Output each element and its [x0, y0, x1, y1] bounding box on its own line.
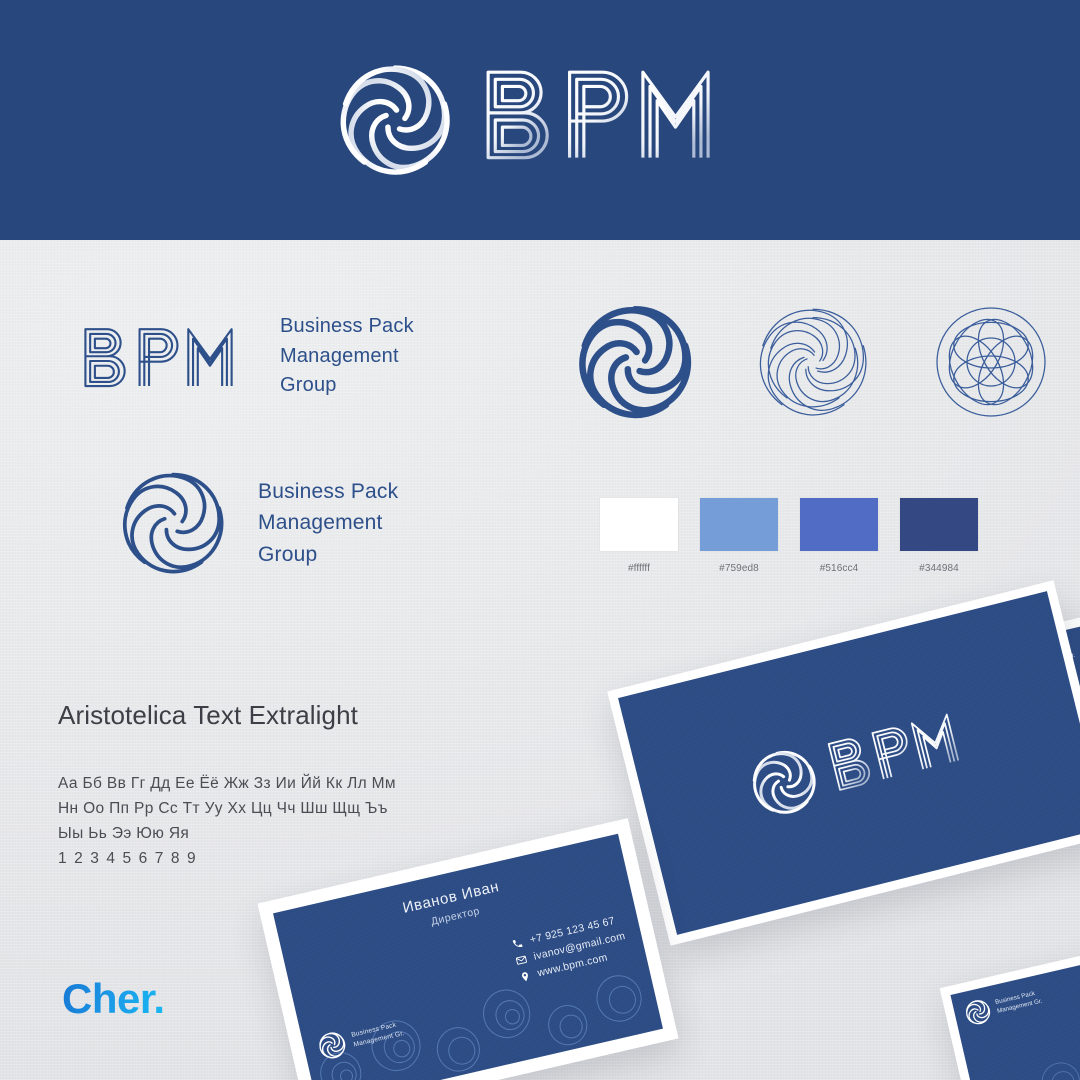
swatch: #759ed8	[700, 498, 778, 574]
swatch: #344984	[900, 498, 978, 574]
tagline-primary: Business Pack Management Group	[280, 312, 414, 401]
swatch: #ffffff	[600, 498, 678, 574]
font-name: Aristotelica Text Extralight	[58, 700, 396, 731]
tagline-line-1: Business Pack	[280, 312, 414, 342]
brand-identity-presentation: Business Pack Management Group Business …	[0, 0, 1080, 1080]
swatch-chip	[800, 498, 878, 551]
tagline-line-1: Business Pack	[258, 476, 398, 507]
mockup-front-card: Иванов Иван Директор +7 925 123 45 67	[278, 858, 658, 1080]
card-face	[618, 591, 1080, 935]
swatch-label: #516cc4	[800, 563, 878, 574]
swatch: #516cc4	[800, 498, 878, 574]
logo-grid	[931, 302, 1051, 422]
swatch-label: #344984	[900, 563, 978, 574]
studio-logo: Cher.	[62, 975, 165, 1023]
tagline-line-3: Group	[258, 539, 398, 570]
logo-construction-row	[575, 302, 1051, 422]
typography-specimen: Aristotelica Text Extralight Аа Бб Вв Гг…	[58, 700, 396, 871]
header-band	[0, 0, 1080, 240]
swatch-label: #ffffff	[600, 563, 678, 574]
business-card: Business Pack Management Gr.	[940, 932, 1080, 1080]
tagline-secondary: Business Pack Management Group	[258, 476, 398, 569]
swatch-label: #759ed8	[700, 563, 778, 574]
bpm-inline-wordmark	[480, 64, 745, 176]
logo-solid	[575, 302, 695, 422]
alphabet-row-3: Ыы Ьь Ээ Юю Яя	[58, 821, 396, 846]
logo-outline	[753, 302, 873, 422]
color-palette: #ffffff #759ed8 #516cc4 #344984	[600, 498, 978, 574]
business-card: Иванов Иван Директор +7 925 123 45 67	[257, 818, 678, 1080]
tagline-line-2: Management	[258, 507, 398, 538]
bpm-inline-wordmark	[80, 315, 256, 407]
alphabet-row-1: Аа Бб Вв Гг Дд Ее Ёё Жж Зз Ии Йй Кк Лл М…	[58, 771, 396, 796]
secondary-lockup: Business Pack Management Group	[118, 468, 398, 578]
phone-icon	[511, 936, 524, 949]
tagline-line-2: Management	[280, 342, 414, 372]
guideline-canvas: Business Pack Management Group Business …	[0, 240, 1080, 1080]
card-face: Business Pack Management Gr.	[950, 943, 1080, 1080]
swatch-chip	[700, 498, 778, 551]
spiral-swirl-logo-mark	[118, 468, 228, 578]
alphabet-rows: Аа Бб Вв Гг Дд Ее Ёё Жж Зз Ии Йй Кк Лл М…	[58, 771, 396, 871]
mockup-small-card-bottom: Business Pack Management Gr.	[955, 958, 1080, 1080]
tagline-line-3: Group	[280, 371, 414, 401]
swatch-chip	[900, 498, 978, 551]
primary-lockup: Business Pack Management Group	[80, 312, 414, 407]
location-pin-icon	[519, 970, 532, 983]
spiral-swirl-logo-mark	[336, 61, 454, 179]
swatch-chip	[600, 498, 678, 551]
alphabet-row-2: Нн Оо Пп Рр Сс Тт Уу Хх Цц Чч Шш Щщ Ъъ	[58, 796, 396, 821]
business-card	[607, 580, 1080, 946]
card-face: Иванов Иван Директор +7 925 123 45 67	[273, 834, 663, 1080]
mockup-back-card	[632, 632, 1080, 894]
envelope-icon	[515, 953, 528, 966]
